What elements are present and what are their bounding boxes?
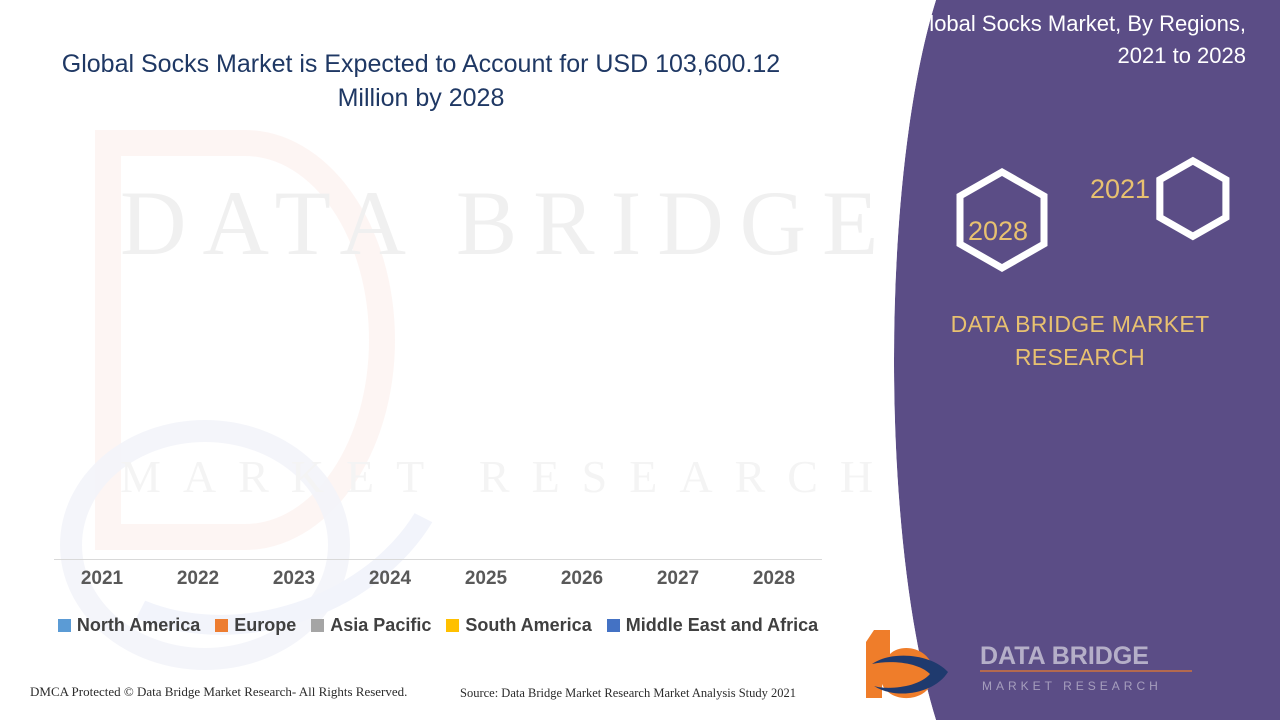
bar-column-2024[interactable] (342, 150, 438, 559)
legend-label: South America (465, 615, 591, 636)
brand-line-2: RESEARCH (890, 341, 1270, 374)
hexagon-2028-label: 2028 (968, 216, 1028, 246)
legend-swatch-icon (446, 619, 459, 632)
branding-panel: Global Socks Market, By Regions, 2021 to… (840, 0, 1280, 720)
bar-column-2026[interactable] (534, 150, 630, 559)
x-tick-label-2028: 2028 (726, 568, 822, 590)
logo-name-line1: DATA BRIDGE (980, 642, 1149, 670)
x-tick-label-2026: 2026 (534, 568, 630, 590)
bar-column-2021[interactable] (54, 150, 150, 559)
chart-title: Global Socks Market is Expected to Accou… (56, 48, 786, 116)
legend-label: Asia Pacific (330, 615, 431, 636)
x-axis-tick-labels: 20212022202320242025202620272028 (54, 568, 822, 590)
bar-column-2025[interactable] (438, 150, 534, 559)
bar-series-container (54, 150, 822, 559)
slide-root: DATA BRIDGE MARKET RESEARCH Global Socks… (0, 0, 1280, 720)
x-axis-line (54, 559, 822, 560)
legend-swatch-icon (607, 619, 620, 632)
bar-column-2022[interactable] (150, 150, 246, 559)
x-tick-label-2021: 2021 (54, 568, 150, 590)
hexagon-badges: 2021 2028 (840, 130, 1280, 310)
legend-item[interactable]: North America (58, 615, 200, 636)
legend-item[interactable]: Asia Pacific (311, 615, 431, 636)
hexagon-2021-shape (1160, 161, 1226, 237)
x-tick-label-2022: 2022 (150, 568, 246, 590)
logo-name-line2: MARKET RESEARCH (982, 679, 1162, 693)
chart-plot-area (54, 150, 822, 560)
legend-item[interactable]: Europe (215, 615, 296, 636)
bar-column-2027[interactable] (630, 150, 726, 559)
legend-label: North America (77, 615, 200, 636)
company-logo: DATA BRIDGE MARKET RESEARCH (852, 620, 1272, 706)
legend-swatch-icon (215, 619, 228, 632)
x-tick-label-2023: 2023 (246, 568, 342, 590)
legend-label: Europe (234, 615, 296, 636)
copyright-text: DMCA Protected © Data Bridge Market Rese… (30, 684, 407, 700)
panel-title: Global Socks Market, By Regions, 2021 to… (876, 8, 1246, 72)
x-tick-label-2025: 2025 (438, 568, 534, 590)
chart-legend: North AmericaEuropeAsia PacificSouth Ame… (54, 615, 822, 636)
x-tick-label-2027: 2027 (630, 568, 726, 590)
hexagon-2021-label: 2021 (1090, 174, 1150, 204)
bar-column-2028[interactable] (726, 150, 822, 559)
legend-swatch-icon (58, 619, 71, 632)
brand-name: DATA BRIDGE MARKET RESEARCH (890, 308, 1270, 375)
x-tick-label-2024: 2024 (342, 568, 438, 590)
logo-mark-icon (866, 630, 948, 698)
brand-line-1: DATA BRIDGE MARKET (890, 308, 1270, 341)
bar-column-2023[interactable] (246, 150, 342, 559)
legend-item[interactable]: Middle East and Africa (607, 615, 818, 636)
source-text: Source: Data Bridge Market Research Mark… (460, 686, 796, 701)
logo-divider (980, 670, 1192, 672)
legend-item[interactable]: South America (446, 615, 591, 636)
legend-label: Middle East and Africa (626, 615, 818, 636)
legend-swatch-icon (311, 619, 324, 632)
